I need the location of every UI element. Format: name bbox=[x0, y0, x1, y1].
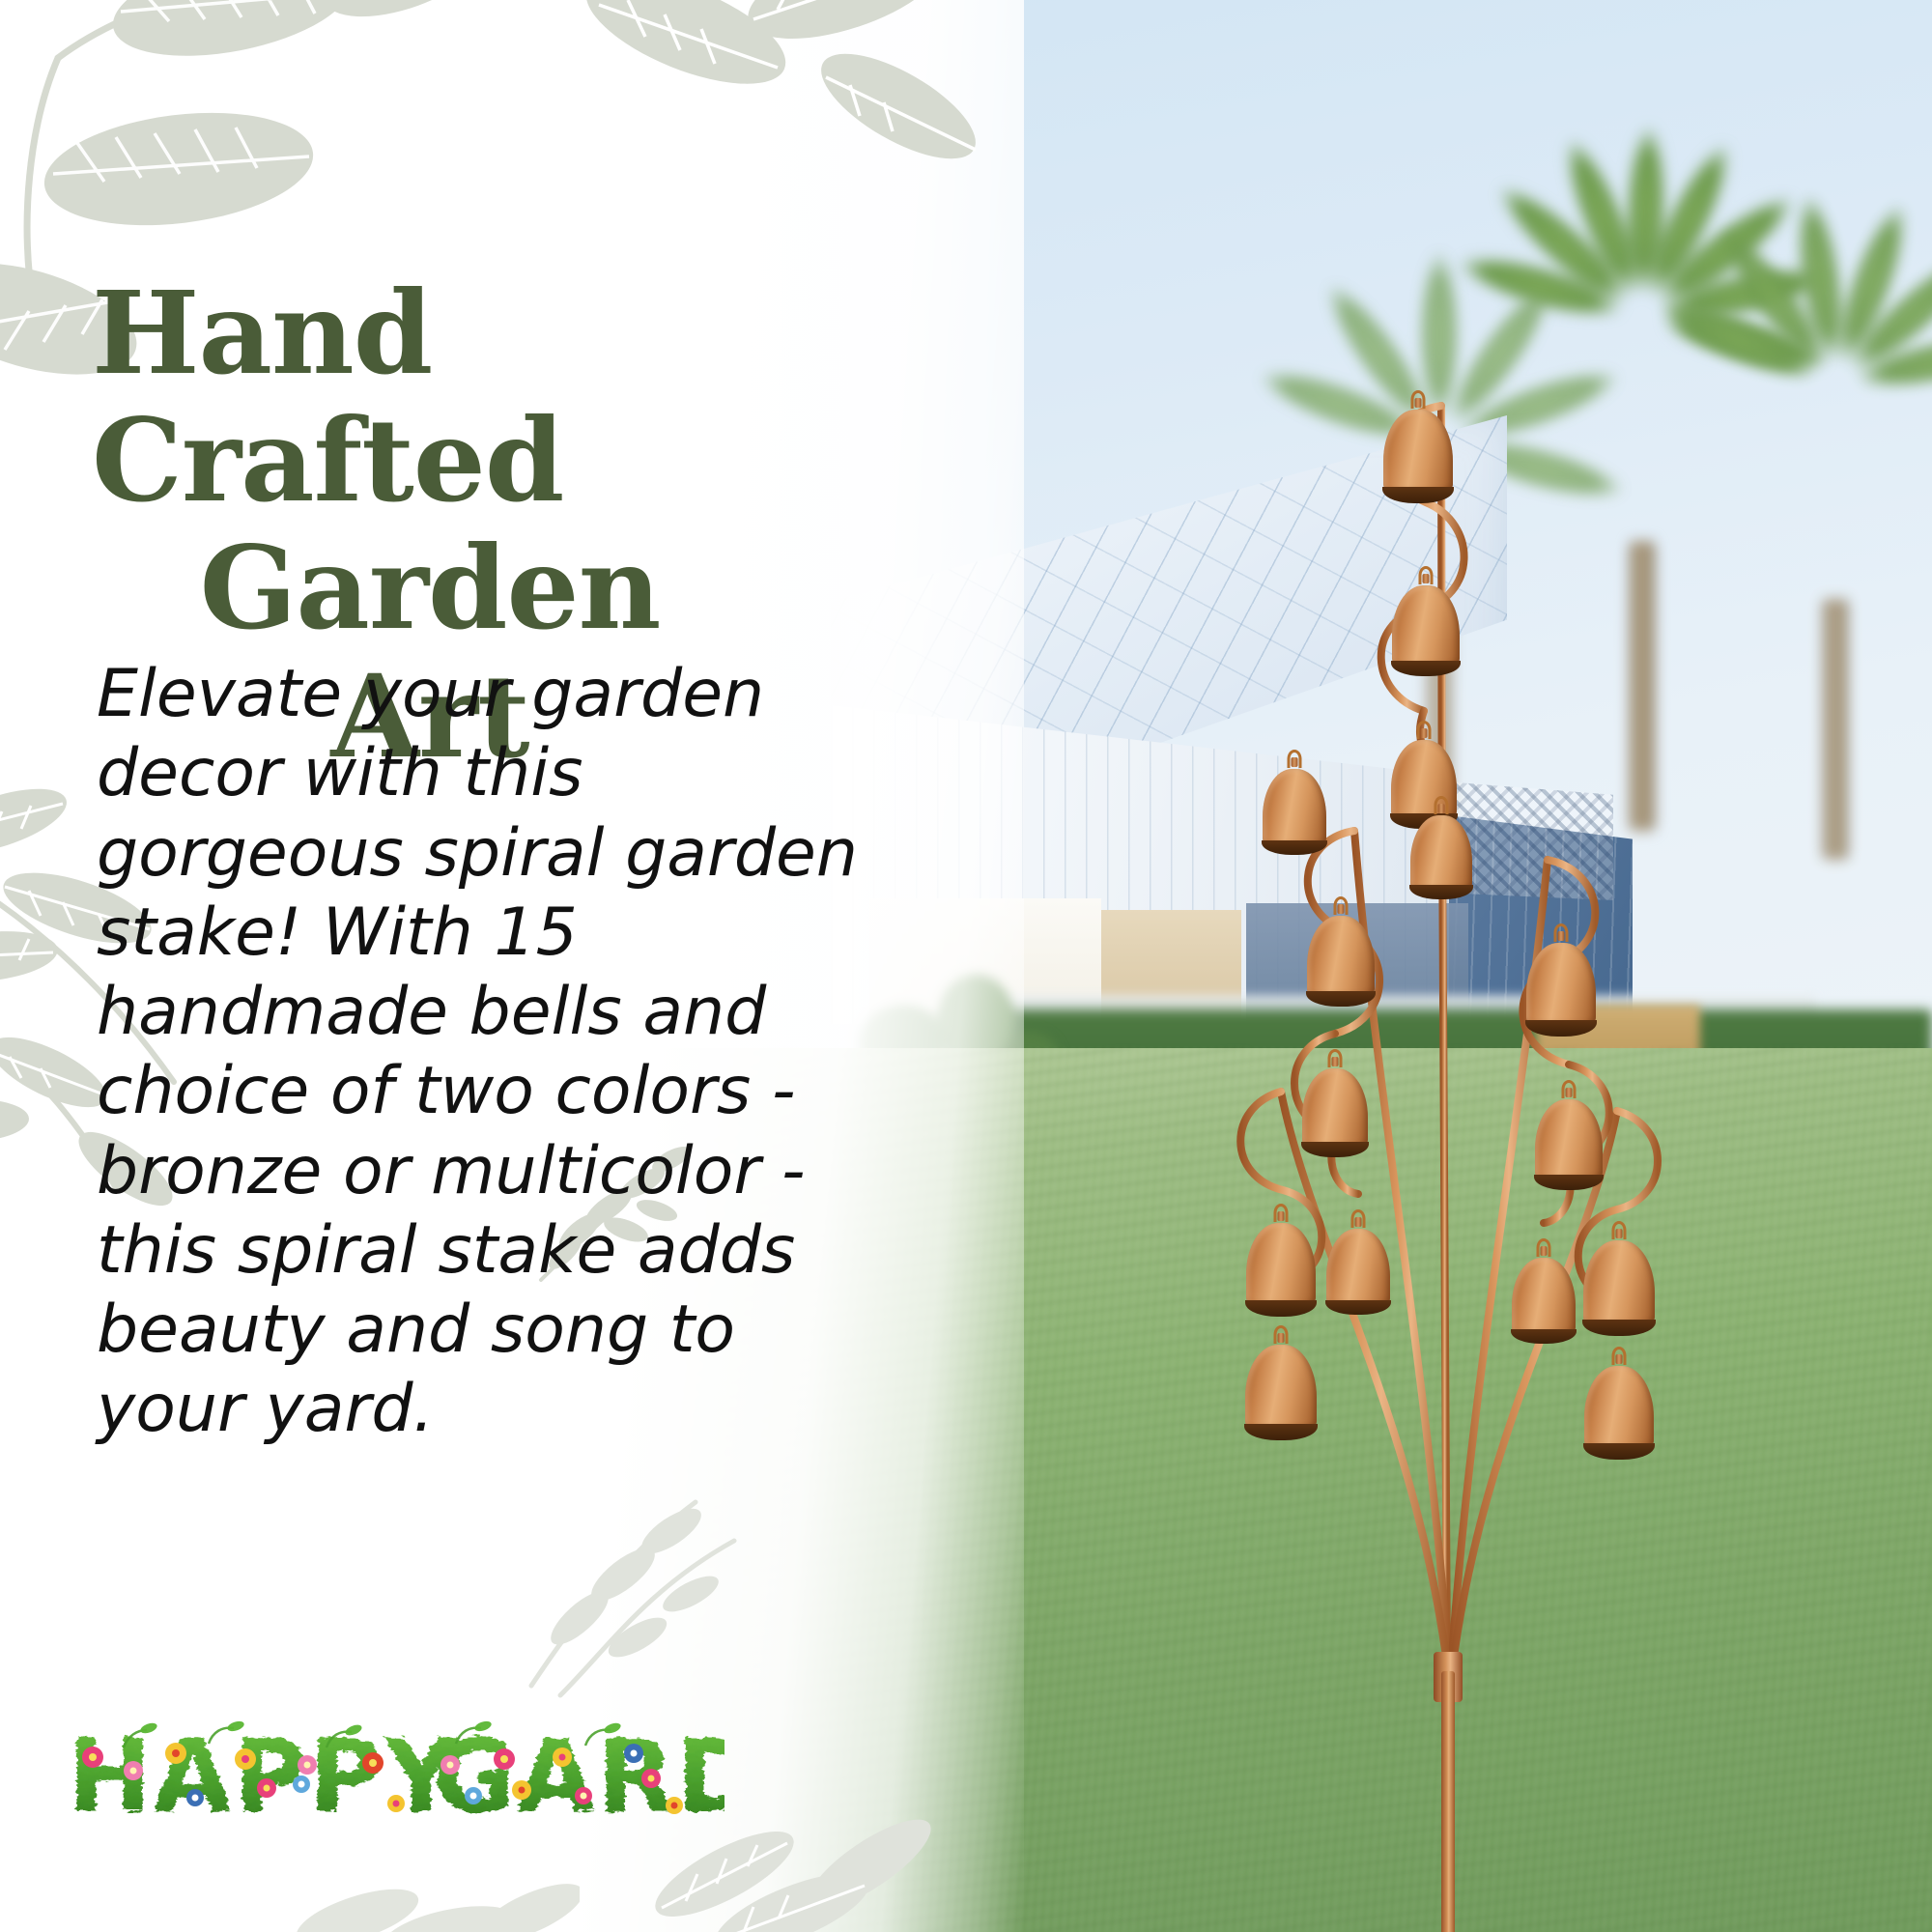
headline-line-1: Hand Crafted bbox=[92, 266, 563, 527]
logo-artwork: HAPPY GARDENS bbox=[68, 1715, 724, 1840]
happy-gardens-logo[interactable]: HAPPY GARDENS bbox=[68, 1715, 724, 1840]
poster-canvas: Hand Crafted Garden Art Elevate your gar… bbox=[0, 0, 1932, 1932]
spiral-bell-garden-stake bbox=[1188, 164, 1729, 1932]
body-copy: Elevate your garden decor with this gorg… bbox=[97, 655, 869, 1450]
logo-word-gardens: GARDENS bbox=[433, 1718, 724, 1835]
stake-pole bbox=[1441, 1671, 1455, 1932]
palm-trunk bbox=[1823, 599, 1848, 860]
